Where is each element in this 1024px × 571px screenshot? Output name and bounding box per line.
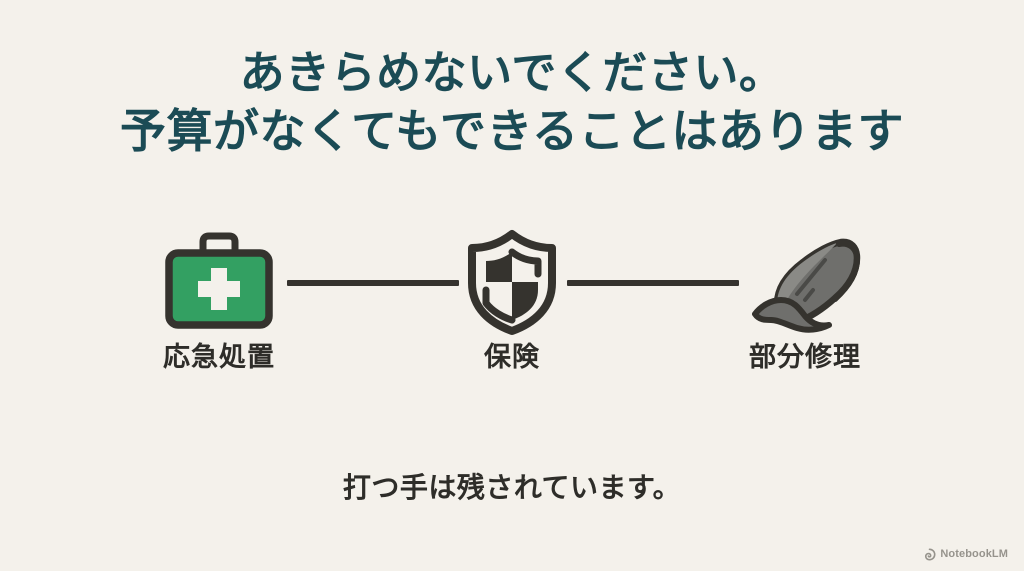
step-item-first-aid: 応急処置	[119, 228, 319, 371]
step-label-first-aid: 応急処置	[119, 344, 319, 371]
page-title: あきらめないでください。 予算がなくてもできることはあります	[0, 44, 1024, 160]
step-item-partial-repair: 部分修理	[705, 228, 905, 371]
notebooklm-logo-icon	[923, 548, 936, 561]
step-item-insurance: 保険	[412, 228, 612, 371]
steps-row: 応急処置 保険	[0, 228, 1024, 388]
slide-canvas: あきらめないでください。 予算がなくてもできることはあります 応急処置	[0, 0, 1024, 571]
title-line-2: 予算がなくてもできることはあります	[0, 102, 1024, 161]
title-line-1: あきらめないでください。	[0, 44, 1024, 102]
bottom-caption: 打つ手は残されています。	[0, 466, 1024, 506]
first-aid-kit-icon	[119, 228, 319, 336]
step-label-partial-repair: 部分修理	[705, 344, 905, 371]
tarp-roll-icon	[705, 228, 905, 336]
watermark: NotebookLM	[923, 548, 1008, 561]
shield-icon	[412, 228, 612, 336]
watermark-label: NotebookLM	[940, 549, 1008, 560]
step-label-insurance: 保険	[412, 344, 612, 371]
